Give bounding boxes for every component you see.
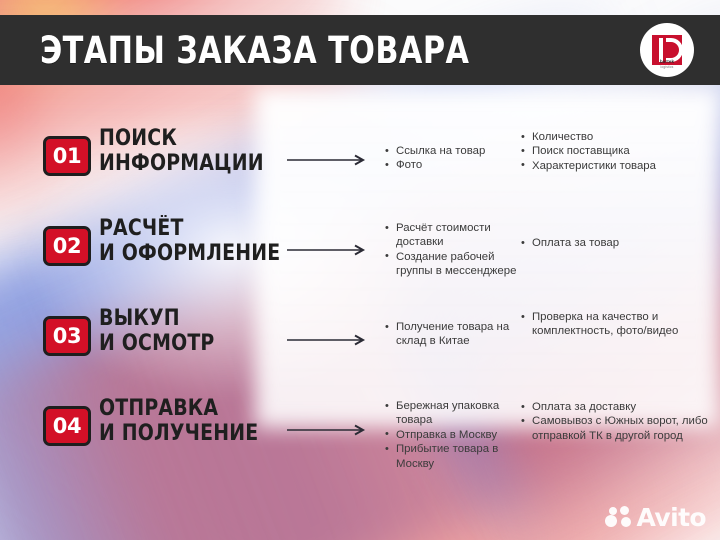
arrow-right-icon bbox=[287, 244, 369, 256]
company-logo: bartek logistics bbox=[640, 23, 694, 77]
logo-wordmark: bartek logistics bbox=[640, 59, 694, 69]
infographic-poster: ЭТАПЫ ЗАКАЗА ТОВАРА bartek logistics 01 … bbox=[0, 0, 720, 540]
step-title: ВЫКУП И ОСМОТР bbox=[99, 306, 214, 356]
list-item: Получение товара на склад в Китае bbox=[385, 320, 517, 349]
step-number-label: 03 bbox=[53, 326, 82, 347]
bullet-list: Расчёт стоимости доставки Создание рабоч… bbox=[385, 221, 517, 279]
arrow-right-icon bbox=[287, 424, 369, 436]
step-details-column-b: Оплата за товар bbox=[521, 236, 711, 250]
header-banner: ЭТАПЫ ЗАКАЗА ТОВАРА bartek logistics bbox=[0, 15, 720, 85]
step-title-line1: РАСЧЁТ bbox=[99, 216, 184, 241]
step-number-label: 04 bbox=[53, 416, 82, 437]
step-row: 01 ПОИСК ИНФОРМАЦИИ Ссылка на товар Фото… bbox=[0, 118, 720, 208]
step-title: РАСЧЁТ И ОФОРМЛЕНИЕ bbox=[99, 216, 280, 266]
step-number-label: 02 bbox=[53, 236, 82, 257]
bullet-list: Количество Поиск поставщика Характеристи… bbox=[521, 130, 711, 173]
step-details-column-a: Получение товара на склад в Китае bbox=[385, 320, 517, 349]
avito-wordmark: Avito bbox=[637, 505, 706, 530]
steps-list: 01 ПОИСК ИНФОРМАЦИИ Ссылка на товар Фото… bbox=[0, 118, 720, 478]
step-details-column-b: Количество Поиск поставщика Характеристи… bbox=[521, 130, 711, 173]
step-title-line2: И ПОЛУЧЕНИЕ bbox=[99, 421, 258, 446]
bullet-list: Оплата за товар bbox=[521, 236, 711, 250]
bullet-list: Проверка на качество и комплектность, фо… bbox=[521, 310, 711, 339]
step-title-line2: И ОСМОТР bbox=[99, 331, 214, 356]
step-details-column-b: Проверка на качество и комплектность, фо… bbox=[521, 310, 711, 339]
step-number-badge: 01 bbox=[43, 136, 91, 176]
step-number-badge: 04 bbox=[43, 406, 91, 446]
step-row: 02 РАСЧЁТ И ОФОРМЛЕНИЕ Расчёт стоимости … bbox=[0, 208, 720, 298]
page-title: ЭТАПЫ ЗАКАЗА ТОВАРА bbox=[40, 32, 469, 69]
list-item: Бережная упаковка товара bbox=[385, 399, 517, 428]
avito-watermark: Avito bbox=[605, 505, 706, 530]
step-details-column-a: Расчёт стоимости доставки Создание рабоч… bbox=[385, 221, 517, 279]
list-item: Проверка на качество и комплектность, фо… bbox=[521, 310, 711, 339]
logo-tagline-text: logistics bbox=[640, 65, 694, 69]
list-item: Количество bbox=[521, 130, 711, 144]
list-item: Создание рабочей группы в мессенджере bbox=[385, 250, 517, 279]
list-item: Ссылка на товар bbox=[385, 144, 517, 158]
step-details-column-a: Ссылка на товар Фото bbox=[385, 144, 517, 173]
bullet-list: Получение товара на склад в Китае bbox=[385, 320, 517, 349]
step-title-line2: И ОФОРМЛЕНИЕ bbox=[99, 241, 280, 266]
step-details-column-b: Оплата за доставку Самовывоз с Южных вор… bbox=[521, 400, 711, 443]
step-number-badge: 03 bbox=[43, 316, 91, 356]
step-title-line1: ОТПРАВКА bbox=[99, 396, 218, 421]
logo-wordmark-text: bartek bbox=[660, 59, 674, 64]
list-item: Оплата за товар bbox=[521, 236, 711, 250]
bullet-list: Ссылка на товар Фото bbox=[385, 144, 517, 173]
step-row: 03 ВЫКУП И ОСМОТР Получение товара на ск… bbox=[0, 298, 720, 388]
bullet-list: Оплата за доставку Самовывоз с Южных вор… bbox=[521, 400, 711, 443]
avito-dots-icon bbox=[605, 506, 633, 530]
list-item: Отправка в Москву bbox=[385, 428, 517, 442]
step-number-badge: 02 bbox=[43, 226, 91, 266]
bullet-list: Бережная упаковка товара Отправка в Моск… bbox=[385, 399, 517, 471]
step-row: 04 ОТПРАВКА И ПОЛУЧЕНИЕ Бережная упаковк… bbox=[0, 388, 720, 478]
step-title: ОТПРАВКА И ПОЛУЧЕНИЕ bbox=[99, 396, 258, 446]
list-item: Фото bbox=[385, 158, 517, 172]
step-title-line2: ИНФОРМАЦИИ bbox=[99, 151, 264, 176]
step-title: ПОИСК ИНФОРМАЦИИ bbox=[99, 126, 264, 176]
arrow-right-icon bbox=[287, 334, 369, 346]
list-item: Оплата за доставку bbox=[521, 400, 711, 414]
list-item: Поиск поставщика bbox=[521, 144, 711, 158]
list-item: Характеристики товара bbox=[521, 159, 711, 173]
list-item: Прибытие товара в Москву bbox=[385, 442, 517, 471]
step-title-line1: ВЫКУП bbox=[99, 306, 180, 331]
step-number-label: 01 bbox=[53, 146, 82, 167]
step-title-line1: ПОИСК bbox=[99, 126, 177, 151]
list-item: Расчёт стоимости доставки bbox=[385, 221, 517, 250]
list-item: Самовывоз с Южных ворот, либо отправкой … bbox=[521, 414, 711, 443]
step-details-column-a: Бережная упаковка товара Отправка в Моск… bbox=[385, 399, 517, 471]
arrow-right-icon bbox=[287, 154, 369, 166]
